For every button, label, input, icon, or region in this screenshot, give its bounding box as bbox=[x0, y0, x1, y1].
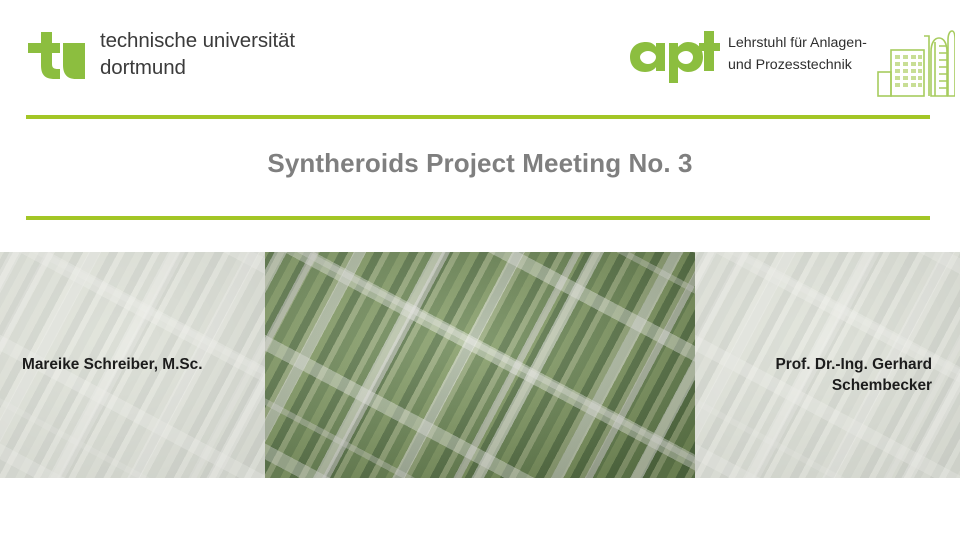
apt-logo: Lehrstuhl für Anlagen- und Prozesstechni… bbox=[628, 26, 955, 98]
presenter-name-left: Mareike Schreiber, M.Sc. bbox=[22, 354, 203, 375]
divider-top bbox=[26, 115, 930, 119]
tu-dortmund-wordmark: technische universität dortmund bbox=[100, 28, 295, 81]
plant-building-icon bbox=[877, 28, 955, 98]
apt-subtitle: Lehrstuhl für Anlagen- und Prozesstechni… bbox=[728, 26, 867, 76]
tu-ligature-icon bbox=[24, 30, 86, 80]
apt-wordmark-icon bbox=[628, 26, 720, 84]
slide-title: Syntheroids Project Meeting No. 3 bbox=[0, 148, 960, 179]
presenter-name-right: Prof. Dr.-Ing. Gerhard Schembecker bbox=[776, 354, 933, 397]
photo-panel-center bbox=[265, 252, 695, 478]
slide-footer: ERA CoBioTech October 1, 2019, Russia, P… bbox=[0, 478, 960, 540]
presentation-slide: technische universität dortmund Lehrstuh… bbox=[0, 0, 960, 540]
tu-dortmund-logo: technische universität dortmund bbox=[24, 28, 295, 81]
divider-bottom bbox=[26, 216, 930, 220]
